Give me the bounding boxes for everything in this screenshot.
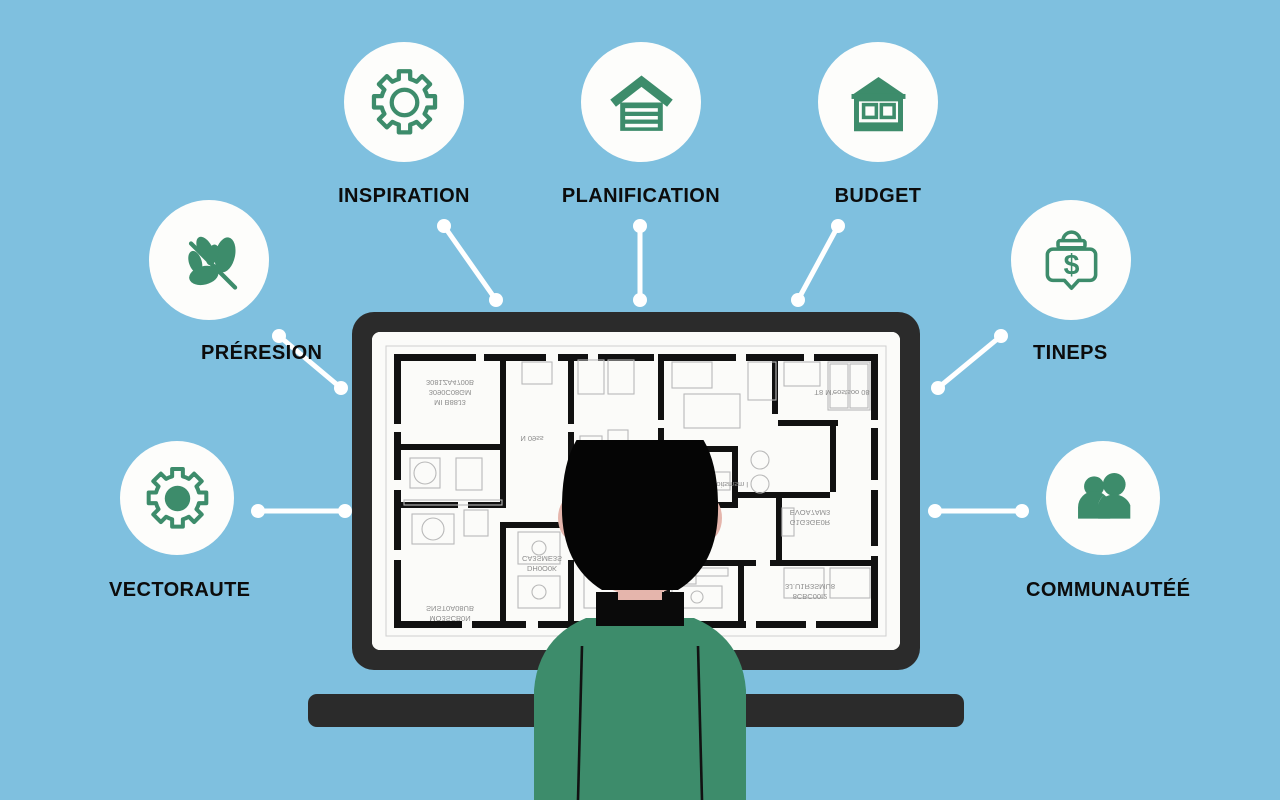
node-bubble-vectoraute[interactable] — [120, 441, 234, 555]
people-group-icon — [1070, 465, 1137, 532]
connector-dot-inspiration-start — [437, 219, 451, 233]
connector-line-tineps — [938, 336, 1001, 388]
house-plan-icon — [606, 67, 677, 138]
svg-text:T8 M'eostsoo 08: T8 M'eostsoo 08 — [814, 388, 869, 397]
connector-dot-communautee-start — [1015, 504, 1029, 518]
svg-text:MI B88J3: MI B88J3 — [434, 398, 466, 407]
connector-dot-communautee-end — [928, 504, 942, 518]
storefront-icon — [843, 67, 914, 138]
person-viewing-screen — [468, 440, 812, 800]
connector-dot-tineps-end — [931, 381, 945, 395]
connector-dot-planification-start — [633, 219, 647, 233]
connector-dot-preresion-end — [334, 381, 348, 395]
connector-dot-planification-end — [633, 293, 647, 307]
connector-dot-budget-start — [831, 219, 845, 233]
node-label-communautee: COMMUNAUTÉÉ — [1026, 580, 1190, 600]
leaf-branch-icon — [174, 225, 245, 296]
connector-dot-budget-end — [791, 293, 805, 307]
connector-dot-inspiration-end — [489, 293, 503, 307]
connector-dot-vectoraute-end — [338, 504, 352, 518]
node-bubble-planification[interactable] — [581, 42, 701, 162]
svg-text:3090C08GM: 3090C08GM — [429, 388, 472, 397]
node-bubble-communautee[interactable] — [1046, 441, 1160, 555]
money-bag-icon: $ — [1036, 225, 1107, 296]
connector-dot-tineps-start — [994, 329, 1008, 343]
gear-solid-icon — [144, 465, 211, 532]
svg-text:SNST0A08UB: SNST0A08UB — [426, 604, 474, 613]
svg-text:MO3SCB0N: MO3SCB0N — [429, 614, 470, 623]
connector-line-budget — [798, 226, 838, 300]
node-label-vectoraute: VECTORAUTE — [109, 580, 250, 600]
node-bubble-inspiration[interactable] — [344, 42, 464, 162]
node-label-tineps: TINEPS — [1033, 343, 1108, 363]
connector-dot-preresion-start — [272, 329, 286, 343]
node-label-planification: PLANIFICATION — [562, 186, 720, 206]
node-bubble-preresion[interactable] — [149, 200, 269, 320]
node-bubble-budget[interactable] — [818, 42, 938, 162]
node-label-budget: BUDGET — [835, 186, 922, 206]
node-bubble-tineps[interactable]: $ — [1011, 200, 1131, 320]
node-label-inspiration: INSPIRATION — [338, 186, 470, 206]
node-label-preresion: PRÉRESION — [201, 343, 322, 363]
connector-line-inspiration — [444, 226, 496, 300]
infographic-canvas: 3081ZA4700B 3090C08GM MI B88J3 N 09ss CA… — [0, 0, 1280, 800]
gear-outline-icon — [369, 67, 440, 138]
svg-text:$: $ — [1063, 249, 1079, 281]
connector-dot-vectoraute-start — [251, 504, 265, 518]
svg-text:3081ZA4700B: 3081ZA4700B — [426, 378, 474, 387]
